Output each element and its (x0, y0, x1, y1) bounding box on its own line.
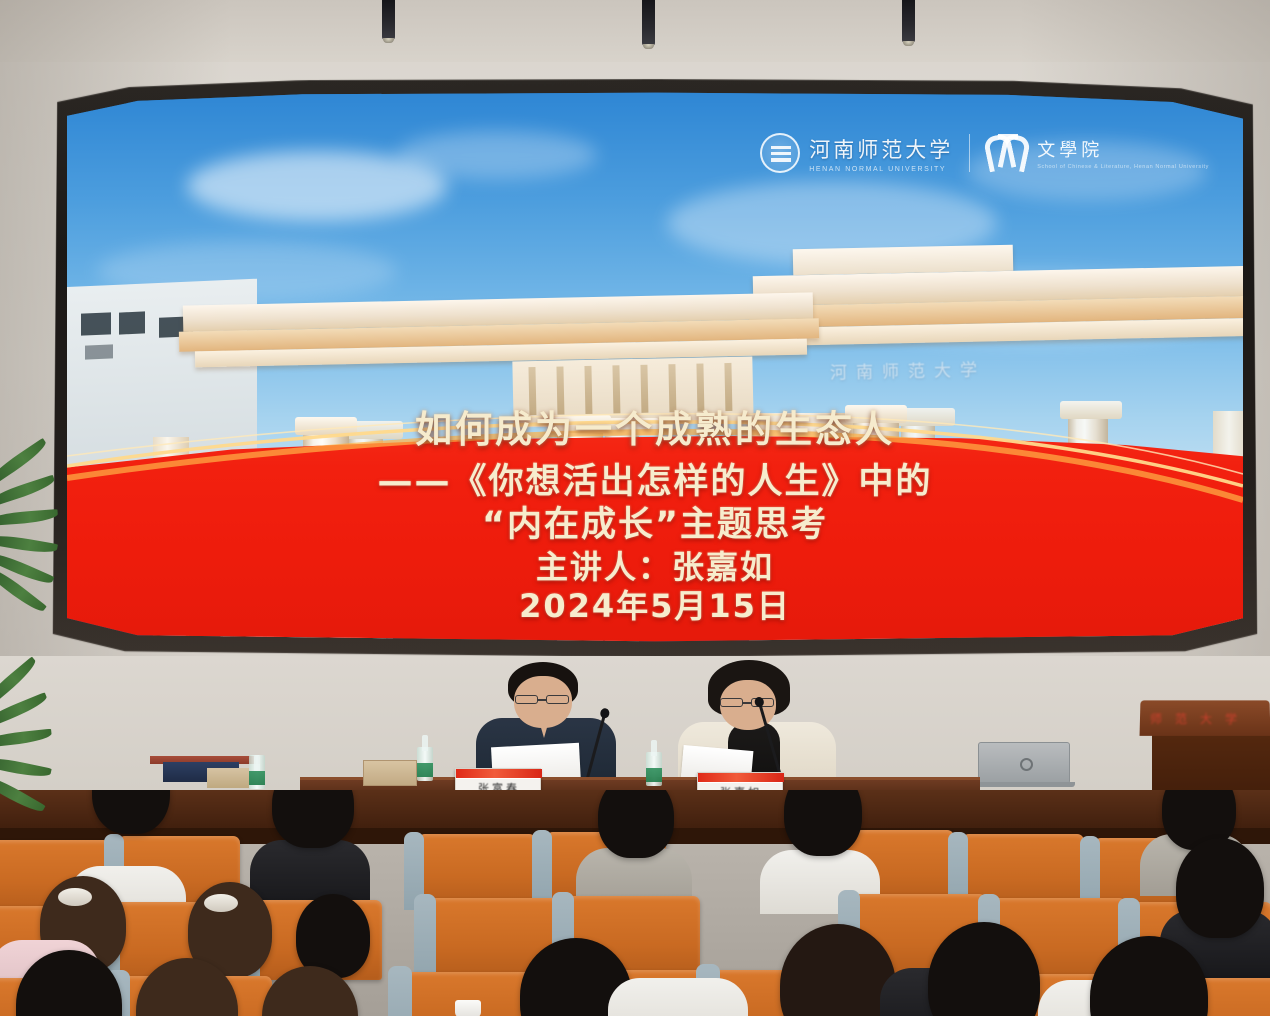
hair-scrunchie (58, 888, 92, 906)
college-name-cn: 文學院 (1037, 136, 1209, 162)
cloud (397, 131, 597, 179)
banner-text-block: 如何成为一个成熟的生态人 ——《你想活出怎样的人生》中的 “内在成长”主题思考 … (67, 461, 1243, 627)
audience-area (0, 790, 1270, 1016)
bottle-neck (651, 740, 657, 756)
ceiling-spotlight-icon (902, 0, 915, 43)
water-bottle (249, 755, 262, 789)
university-name-cn: 河南师范大学 (809, 134, 953, 164)
university-crest-icon (760, 133, 800, 173)
lecture-hall-scene: 河南师范大学 (0, 0, 1270, 1016)
university-logo: 河南师范大学 HENAN NORMAL UNIVERSITY (760, 133, 953, 173)
glasses-icon (515, 695, 538, 704)
audience-head (598, 790, 674, 858)
bottle-neck (422, 735, 428, 751)
building-window (119, 311, 145, 334)
podium-char: 大 (1200, 710, 1212, 727)
laptop-lid (978, 742, 1070, 784)
ceiling-spotlight-icon (642, 0, 655, 46)
led-screen: 河南师范大学 (55, 78, 1255, 656)
podium-char: 师 (1150, 710, 1162, 727)
audience-head (1176, 838, 1264, 938)
nameplate-red-strip (698, 773, 784, 782)
audience-shoulders (608, 978, 748, 1016)
podium-char: 学 (1225, 710, 1237, 727)
screen-logos: 河南师范大学 HENAN NORMAL UNIVERSITY 文學院 Schoo… (760, 133, 1209, 173)
banner-title-line-1: 如何成为一个成熟的生态人 (67, 399, 1243, 453)
bottle-label (417, 763, 433, 777)
banner-title-line-3: “内在成长”主题思考 (67, 504, 1243, 547)
bottle-label (646, 768, 662, 782)
glasses-icon (720, 698, 743, 707)
envelope-on-desk (207, 768, 249, 788)
bottle-label (249, 771, 265, 785)
building-window (81, 312, 111, 335)
podium-char: 范 (1175, 710, 1187, 727)
glasses-bridge (743, 702, 751, 704)
bottle-neck (254, 755, 260, 771)
paper-cup (455, 1000, 481, 1016)
seat-divider (532, 830, 552, 908)
seat-divider (388, 966, 412, 1016)
audience-seat (418, 834, 536, 906)
podium-inscription: 师 范 大 学 (1150, 709, 1265, 727)
building-window (85, 344, 113, 359)
college-name-en: School of Chinese & Literature, Henan No… (1037, 164, 1209, 170)
college-logo: 文學院 School of Chinese & Literature, Hena… (986, 136, 1209, 170)
audience-shoulders (250, 840, 370, 906)
seat-divider (414, 894, 436, 982)
logo-divider (969, 134, 970, 172)
university-name-en: HENAN NORMAL UNIVERSITY (809, 166, 953, 173)
screen-content: 河南师范大学 (67, 91, 1243, 643)
glasses-icon (546, 695, 569, 704)
ceiling-spotlight-icon (382, 0, 395, 40)
college-arch-mark-icon (986, 136, 1028, 170)
banner-date-line: 2024年5月15日 (67, 587, 1243, 627)
arch-crossbar-icon (998, 134, 1018, 148)
podium-top: 师 范 大 学 (1140, 700, 1270, 736)
nameplate-red-strip (456, 769, 542, 778)
audience-head (272, 790, 354, 848)
banner-title-line-2: ——《你想活出怎样的人生》中的 (67, 461, 1243, 504)
glasses-bridge (538, 699, 546, 701)
laptop (978, 742, 1070, 784)
water-bottle (417, 735, 433, 781)
audience-head (784, 790, 862, 856)
hair-scrunchie (204, 894, 238, 912)
water-bottle (646, 740, 662, 786)
gate-inscription: 河南师范大学 (793, 355, 1023, 386)
laptop-base (973, 782, 1075, 787)
paper-box (363, 760, 417, 786)
hp-logo-icon (1020, 758, 1033, 771)
banner-speaker-line: 主讲人：张嘉如 (67, 548, 1243, 588)
